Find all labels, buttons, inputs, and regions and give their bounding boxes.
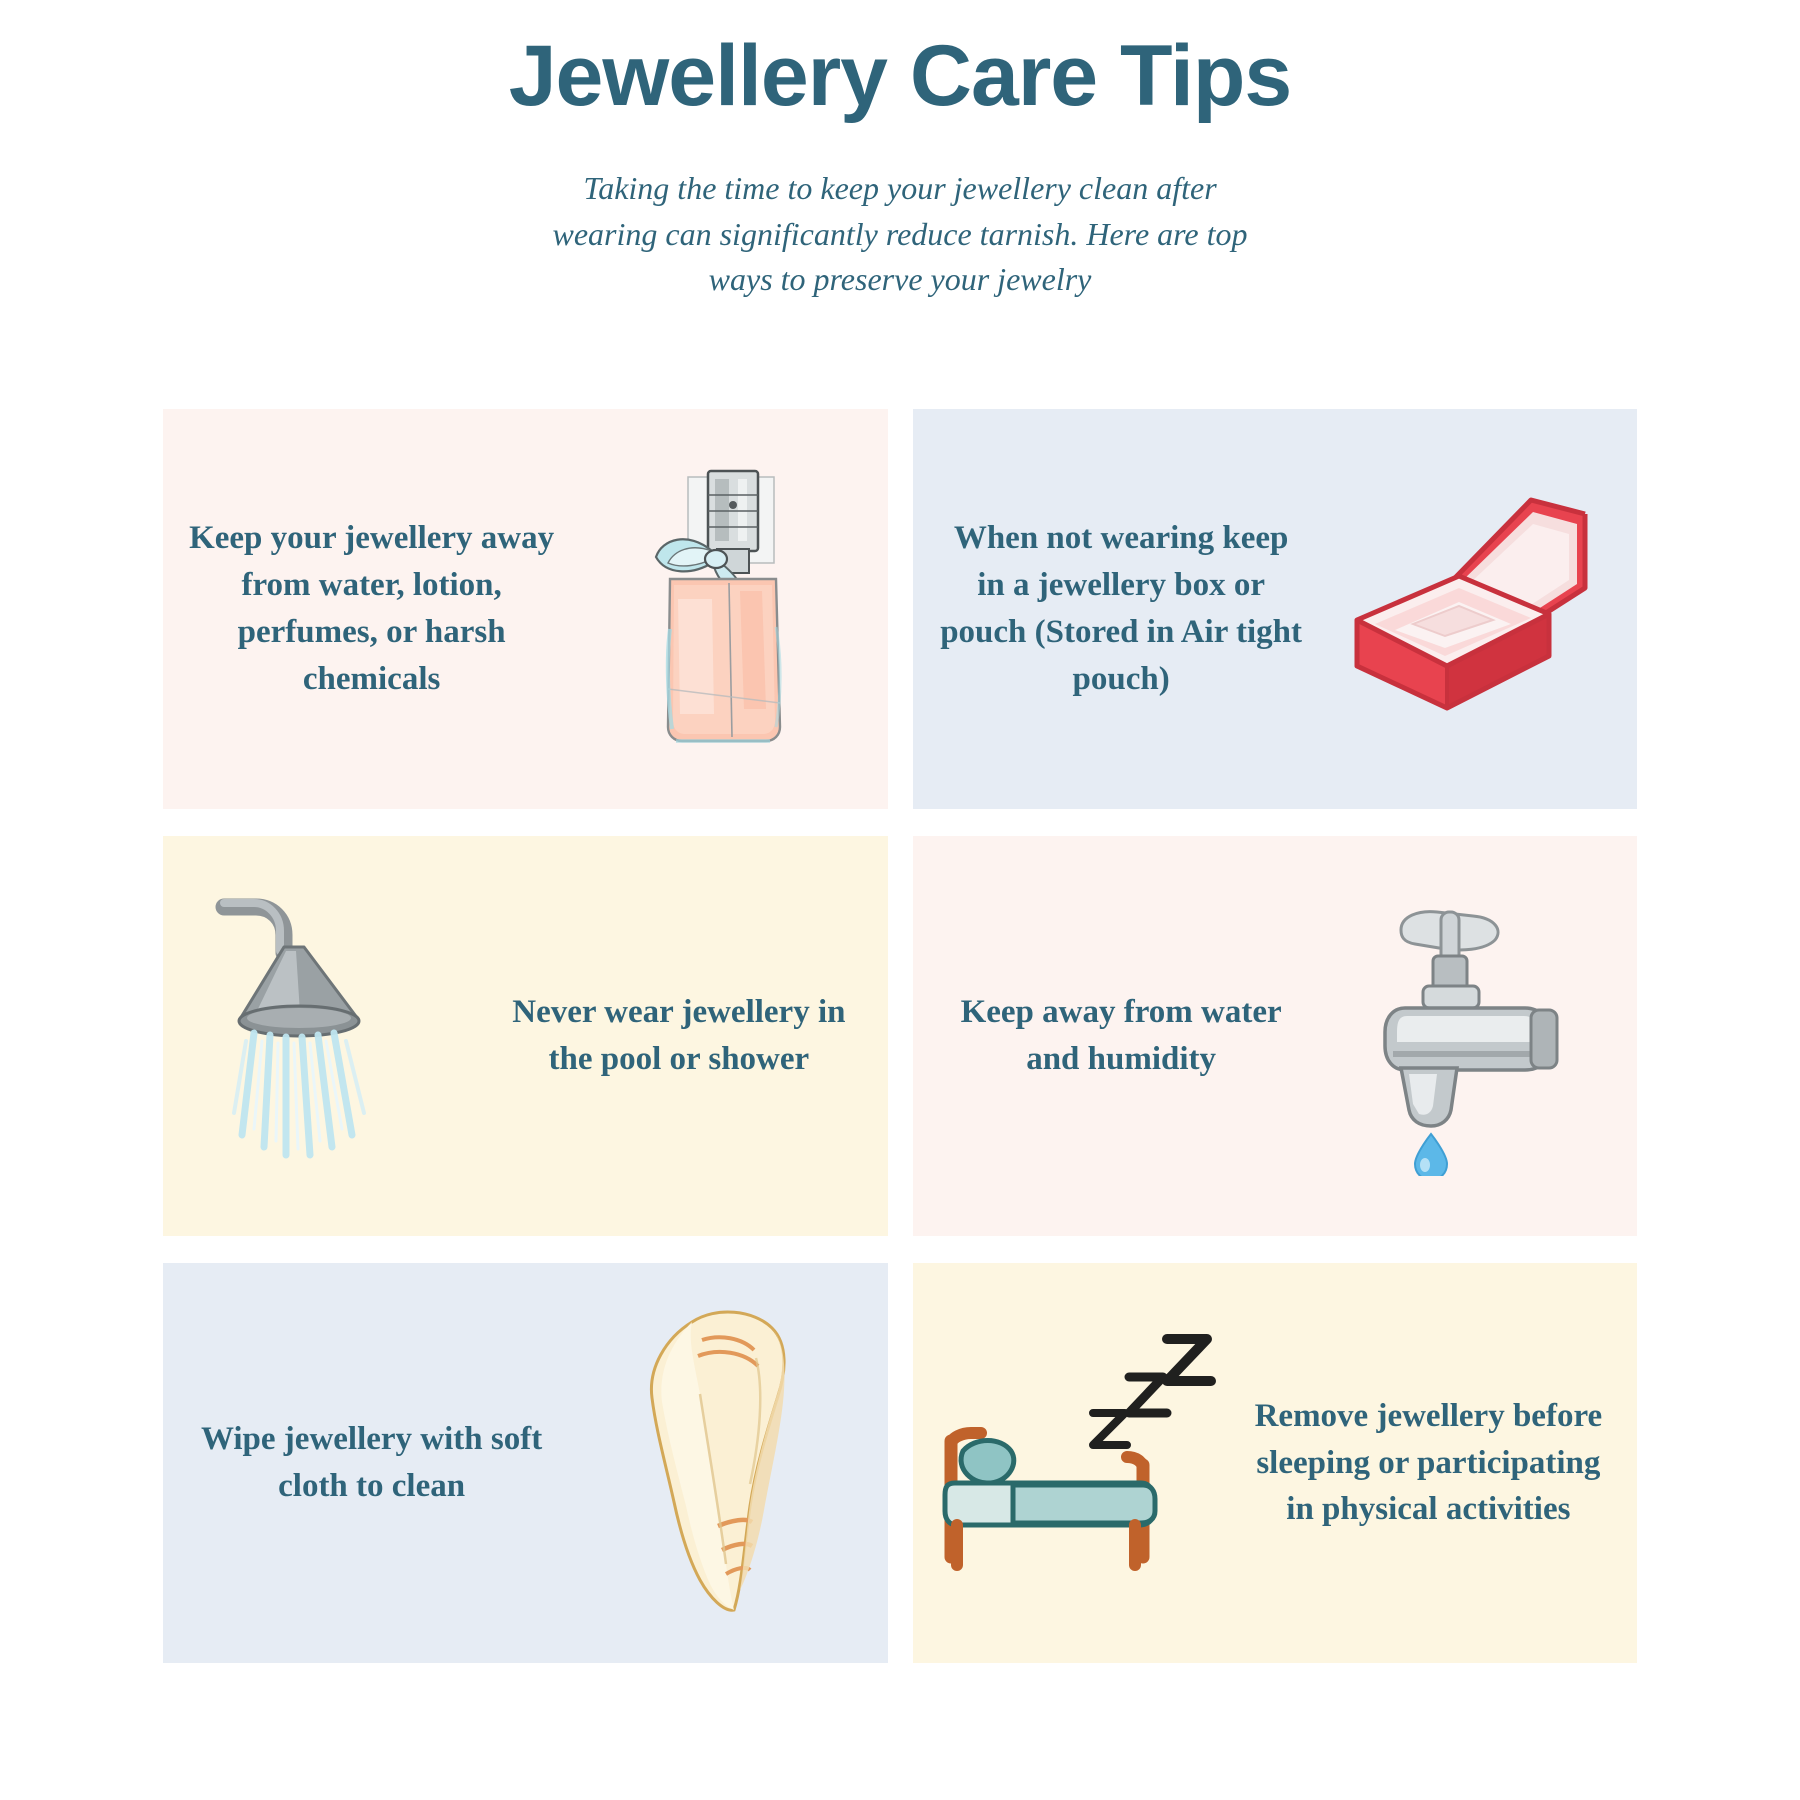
jewellery-box-icon (1304, 409, 1637, 809)
polishing-cloth-icon (554, 1263, 887, 1663)
tip-card-remove-before-sleep[interactable]: Remove jewellery before sleeping or part… (913, 1263, 1638, 1663)
tip-card-wipe-with-cloth[interactable]: Wipe jewellery with soft cloth to clean (163, 1263, 888, 1663)
tip-card-no-pool-shower[interactable]: Never wear jewellery in the pool or show… (163, 836, 888, 1236)
tips-grid: Keep your jewellery away from water, lot… (163, 409, 1637, 1663)
tip-card-text: When not wearing keep in a jewellery box… (913, 515, 1304, 702)
perfume-bottle-icon (554, 409, 887, 809)
tip-card-avoid-chemicals[interactable]: Keep your jewellery away from water, lot… (163, 409, 888, 809)
tip-card-text: Remove jewellery before sleeping or part… (1246, 1393, 1637, 1534)
page-title: Jewellery Care Tips (0, 28, 1800, 124)
page-subtitle: Taking the time to keep your jewellery c… (505, 166, 1295, 302)
tip-card-text: Keep away from water and humidity (913, 989, 1304, 1083)
shower-head-icon (163, 836, 496, 1236)
tip-card-store-in-box[interactable]: When not wearing keep in a jewellery box… (913, 409, 1638, 809)
tip-card-text: Never wear jewellery in the pool or show… (496, 989, 887, 1083)
header: Jewellery Care Tips Taking the time to k… (0, 0, 1800, 303)
infographic-page: Jewellery Care Tips Taking the time to k… (0, 0, 1800, 1800)
subtitle-line-3: ways to preserve your jewelry (505, 257, 1295, 302)
tip-card-text: Keep your jewellery away from water, lot… (163, 515, 554, 702)
subtitle-line-1: Taking the time to keep your jewellery c… (505, 166, 1295, 211)
bed-sleeping-icon (913, 1263, 1246, 1663)
tip-card-text: Wipe jewellery with soft cloth to clean (163, 1416, 554, 1510)
faucet-icon (1304, 836, 1637, 1236)
tip-card-avoid-humidity[interactable]: Keep away from water and humidity (913, 836, 1638, 1236)
subtitle-line-2: wearing can significantly reduce tarnish… (505, 212, 1295, 257)
